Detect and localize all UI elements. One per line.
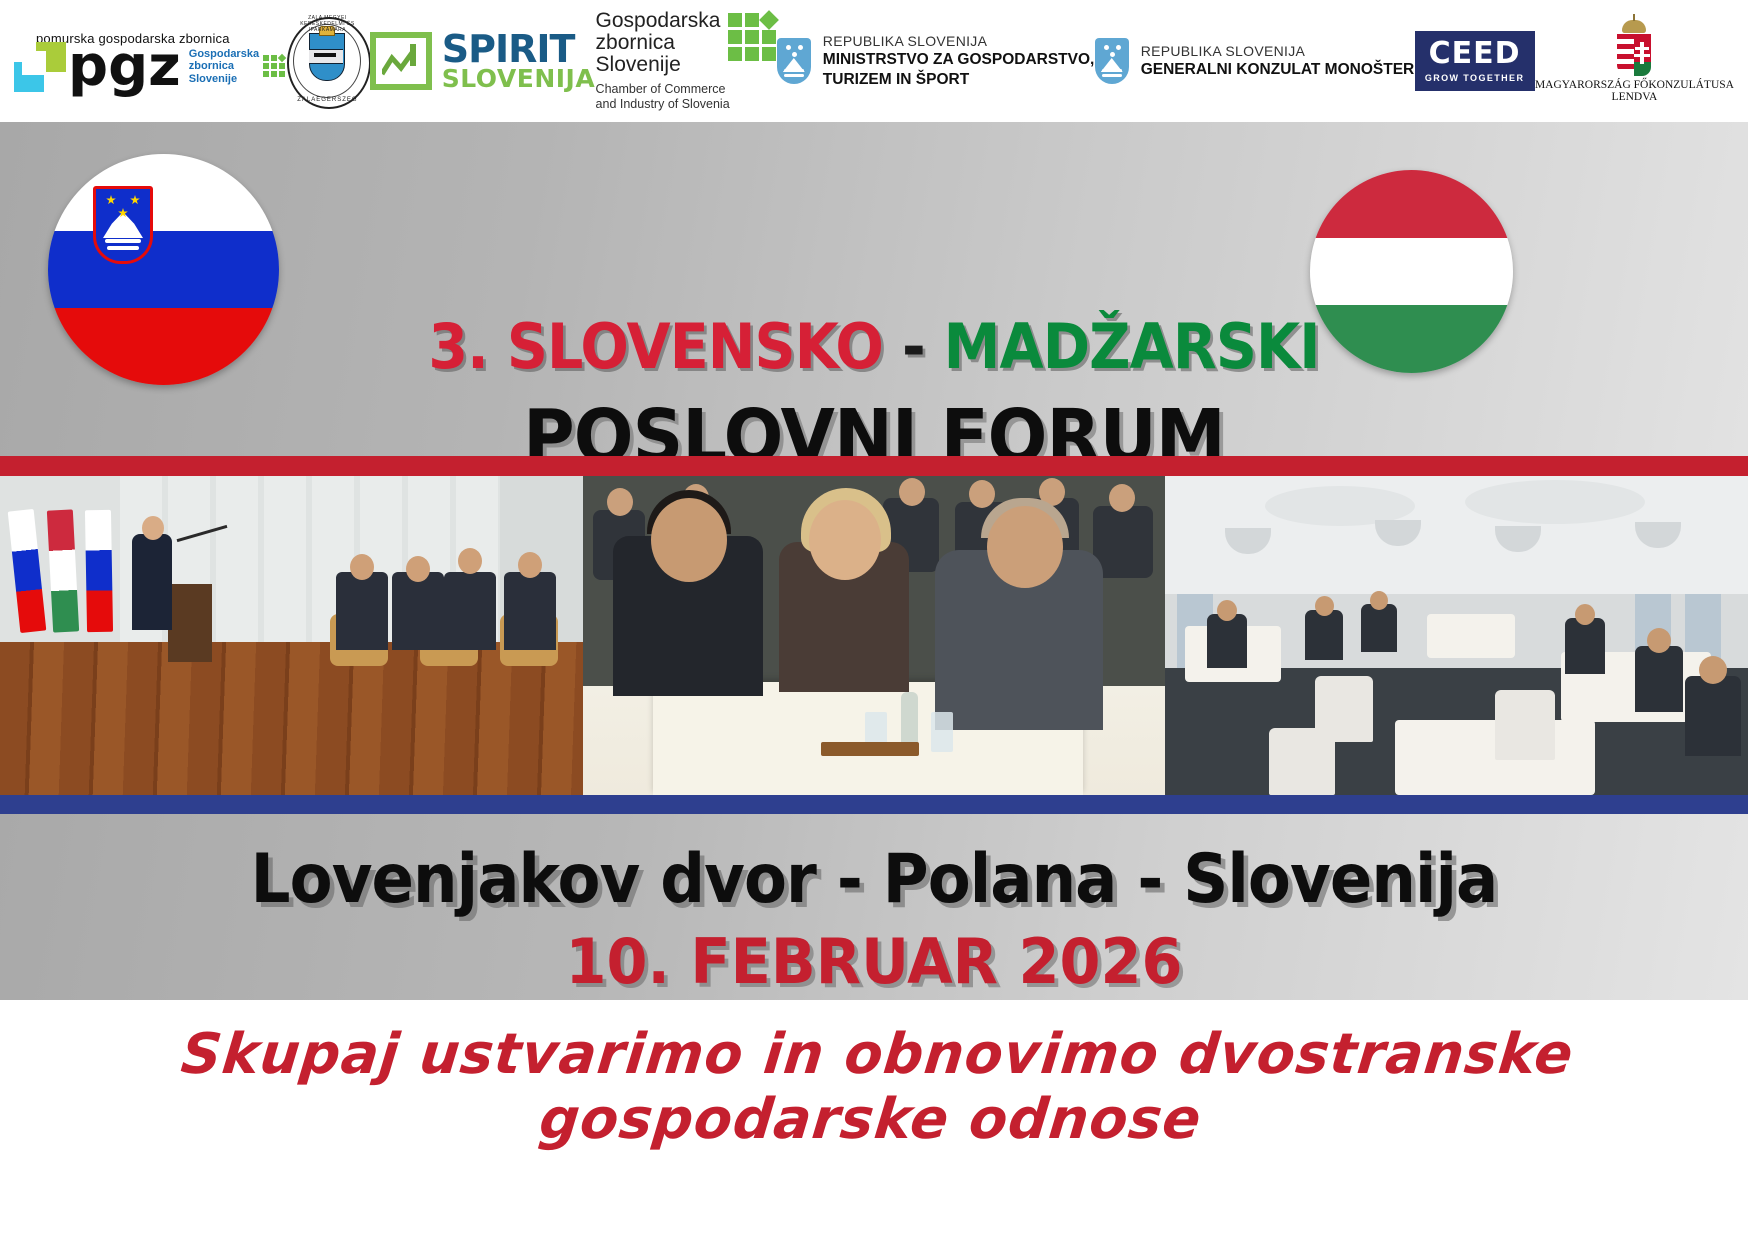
hu-consulate-line1: MAGYARORSZÁG FŐKONZULÁTUSA xyxy=(1535,79,1734,91)
spirit-chart-icon xyxy=(370,32,432,90)
gzs-line3: Slovenije xyxy=(596,54,721,76)
logo-ministry: REPUBLIKA SLOVENIJA MINISTRSTVO ZA GOSPO… xyxy=(777,33,1095,89)
gzs-big-grid-icon xyxy=(728,13,776,61)
pgz-affiliate-badge: Gospodarska zbornica Slovenije xyxy=(189,48,285,86)
slovenia-coat-of-arms-icon xyxy=(93,186,153,264)
spirit-subtitle: SLOVENIJA xyxy=(442,67,595,91)
zala-text-bottom: ZALAEGERSZEG xyxy=(285,97,369,103)
gzs-grid-icon xyxy=(263,55,285,77)
venue-location: Lovenjakov dvor - Polana - Slovenija xyxy=(70,840,1678,919)
pgz-affiliate-line1: Gospodarska xyxy=(189,48,259,61)
gzs-line1: Gospodarska xyxy=(596,10,721,32)
event-title-line1: 3. SLOVENSKO - MADŽARSKI xyxy=(70,310,1678,383)
hungary-crest-icon xyxy=(1613,20,1655,76)
photo-conference-hall xyxy=(1165,476,1748,795)
logo-pgz: pomurska gospodarska zbornica pgz Gospod… xyxy=(14,31,285,92)
logo-ceed: CEED GROW TOGETHER xyxy=(1415,31,1535,91)
ministry-line3: TURIZEM IN ŠPORT xyxy=(823,70,1095,89)
blue-divider-bar xyxy=(0,795,1748,814)
consulate-line1: REPUBLIKA SLOVENIJA xyxy=(1141,43,1415,61)
hu-consulate-line2: LENDVA xyxy=(1612,91,1658,103)
logo-hungary-consulate: MAGYARORSZÁG FŐKONZULÁTUSA LENDVA xyxy=(1535,20,1734,103)
pgz-affiliate-line3: Slovenije xyxy=(189,73,259,86)
zala-text-top: ZALA MEGYEI KERESKEDELMI ÉS IPARKAMARA xyxy=(285,15,369,33)
logo-zala-chamber: ZALA MEGYEI KERESKEDELMI ÉS IPARKAMARA Z… xyxy=(285,15,369,107)
title-dash: - xyxy=(902,310,925,383)
logo-consulate-monoster: REPUBLIKA SLOVENIJA GENERALNI KONZULAT M… xyxy=(1095,38,1415,84)
gzs-line2: zbornica xyxy=(596,32,721,54)
event-poster: pomurska gospodarska zbornica pgz Gospod… xyxy=(0,0,1748,1240)
event-date: 10. FEBRUAR 2026 xyxy=(44,925,1705,998)
slovenia-shield-icon xyxy=(777,38,811,84)
pgz-affiliate-line2: zbornica xyxy=(189,60,259,73)
ceed-tagline: GROW TOGETHER xyxy=(1425,73,1525,83)
title-slovensko: 3. SLOVENSKO xyxy=(428,310,883,383)
hero-title-band: 3. SLOVENSKO - MADŽARSKI POSLOVNI FORUM xyxy=(0,122,1748,456)
gzs-sub1: Chamber of Commerce xyxy=(596,82,730,97)
gzs-sub2: and Industry of Slovenia xyxy=(596,97,730,112)
photo-negotiation-table xyxy=(583,476,1165,795)
pgz-mark-icon xyxy=(14,42,66,92)
slovenia-shield-icon-2 xyxy=(1095,38,1129,84)
spirit-zigzag-icon xyxy=(382,50,424,76)
sponsor-logo-bar: pomurska gospodarska zbornica pgz Gospod… xyxy=(0,0,1748,122)
photo-speaker-podium xyxy=(0,476,583,795)
consulate-line2: GENERALNI KONZULAT MONOŠTER xyxy=(1141,60,1415,79)
logo-gzs: Gospodarska zbornica Slovenije Chamber o… xyxy=(596,10,777,113)
event-slogan: Skupaj ustvarimo in obnovimo dvostranske… xyxy=(2,1022,1746,1152)
ceed-wordmark: CEED xyxy=(1429,39,1521,69)
title-madzarski: MADŽARSKI xyxy=(944,310,1320,383)
ministry-line1: REPUBLIKA SLOVENIJA xyxy=(823,33,1095,51)
logo-spirit-slovenija: SPIRIT SLOVENIJA xyxy=(370,31,595,91)
zala-crest-icon: ZALA MEGYEI KERESKEDELMI ÉS IPARKAMARA Z… xyxy=(285,15,369,107)
ministry-line2: MINISTRSTVO ZA GOSPODARSTVO, xyxy=(823,50,1095,69)
red-divider-bar xyxy=(0,456,1748,476)
spirit-wordmark: SPIRIT xyxy=(442,31,595,67)
photo-strip xyxy=(0,476,1748,795)
pgz-wordmark: pgz xyxy=(68,44,181,90)
